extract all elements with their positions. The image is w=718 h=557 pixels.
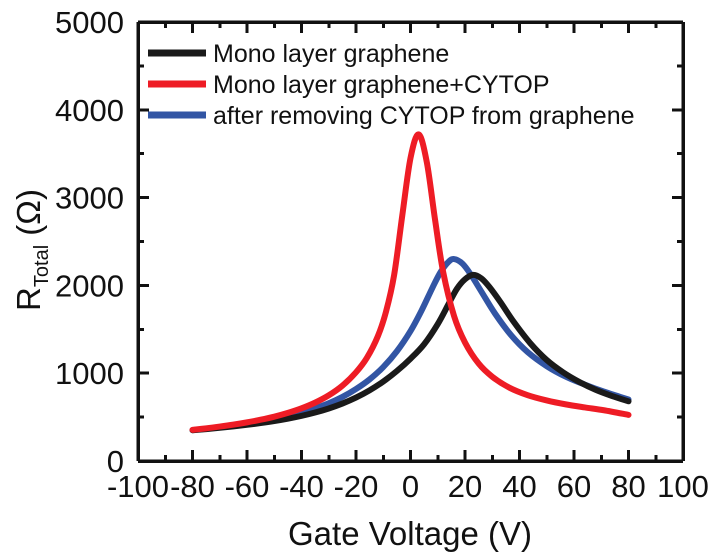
legend-label-1: Mono layer graphene+CYTOP	[213, 71, 550, 99]
svg-text:RTotal (Ω): RTotal (Ω)	[10, 189, 53, 311]
x-tick-label: 60	[557, 469, 591, 504]
legend-label-0: Mono layer graphene	[213, 40, 449, 68]
resistance-vs-gate-voltage-chart: -100-80-60-40-20020406080100 01000200030…	[0, 0, 718, 557]
x-tick-label: -80	[170, 469, 215, 504]
x-tick-label: -40	[279, 469, 324, 504]
x-tick-label: 100	[657, 469, 709, 504]
y-tick-label: 5000	[55, 5, 124, 40]
series-line-0	[193, 275, 629, 430]
x-tick-label: 80	[611, 469, 645, 504]
series-line-1	[193, 134, 629, 429]
x-tick-label: 40	[502, 469, 536, 504]
chart-legend: Mono layer grapheneMono layer graphene+C…	[148, 40, 635, 130]
y-axis-title-unit: (Ω)	[10, 189, 47, 245]
x-axis-tick-labels: -100-80-60-40-20020406080100	[107, 469, 709, 504]
y-axis-title-base: R	[10, 287, 47, 311]
data-series-lines	[193, 134, 629, 430]
y-tick-label: 0	[107, 444, 124, 479]
x-tick-label: 20	[448, 469, 482, 504]
y-axis-title: RTotal (Ω)	[10, 189, 53, 311]
legend-label-2: after removing CYTOP from graphene	[213, 102, 635, 130]
y-tick-label: 2000	[55, 268, 124, 303]
y-tick-label: 3000	[55, 181, 124, 216]
y-axis-title-subscript: Total	[31, 245, 53, 287]
x-tick-label: -20	[334, 469, 379, 504]
chart-figure: -100-80-60-40-20020406080100 01000200030…	[0, 0, 718, 557]
x-axis-title: Gate Voltage (V)	[288, 515, 532, 552]
x-tick-label: 0	[402, 469, 419, 504]
y-tick-label: 4000	[55, 93, 124, 128]
y-axis-tick-labels: 010002000300040005000	[55, 5, 124, 479]
x-tick-label: -60	[225, 469, 270, 504]
y-tick-label: 1000	[55, 356, 124, 391]
